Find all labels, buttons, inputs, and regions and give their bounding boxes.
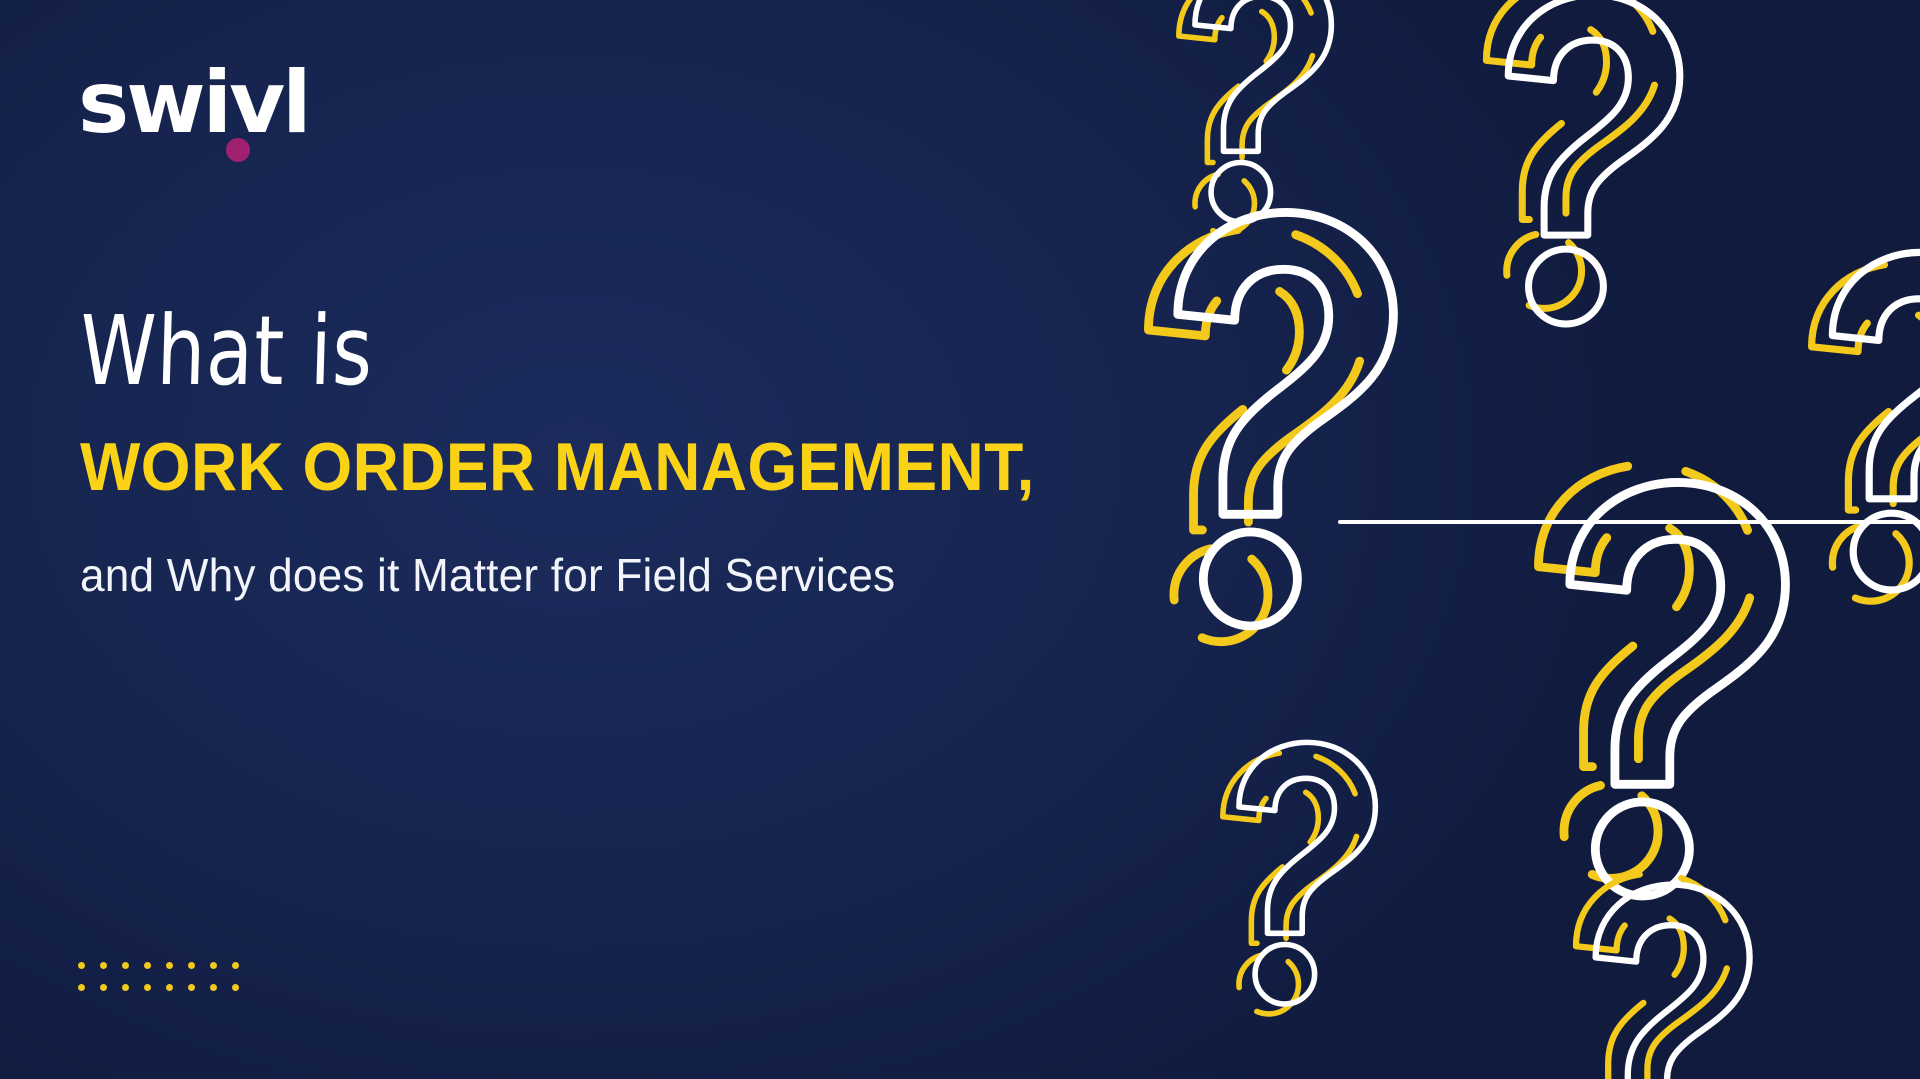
headline-line-topic: WORK ORDER MANAGEMENT, <box>80 429 1095 505</box>
decorative-dot <box>166 984 173 991</box>
decorative-dot <box>78 962 85 969</box>
decorative-dot <box>232 984 239 991</box>
title-slide: swivl What is WORK ORDER MANAGEMENT, and… <box>0 0 1920 1079</box>
decorative-dot-grid <box>78 962 254 1006</box>
decorative-dot <box>188 984 195 991</box>
decorative-dot <box>144 984 151 991</box>
headline-line-subtitle: and Why does it Matter for Field Service… <box>80 547 1117 603</box>
decorative-dot <box>232 962 239 969</box>
magenta-dot-icon <box>226 138 250 162</box>
question-mark-pattern <box>1100 0 1920 1079</box>
decorative-dot <box>100 962 107 969</box>
decorative-dot <box>188 962 195 969</box>
logo-wordmark: swivl <box>78 60 408 146</box>
headline-block: What is WORK ORDER MANAGEMENT, and Why d… <box>80 295 1160 603</box>
swivl-logo[interactable]: swivl <box>78 60 408 160</box>
decorative-dot <box>122 984 129 991</box>
decorative-dot <box>144 962 151 969</box>
decorative-dot <box>122 962 129 969</box>
decorative-dot <box>166 962 173 969</box>
decorative-dot <box>100 984 107 991</box>
decorative-dot <box>210 984 217 991</box>
decorative-dot <box>78 984 85 991</box>
decorative-dot <box>210 962 217 969</box>
headline-line-what-is: What is <box>78 295 945 407</box>
